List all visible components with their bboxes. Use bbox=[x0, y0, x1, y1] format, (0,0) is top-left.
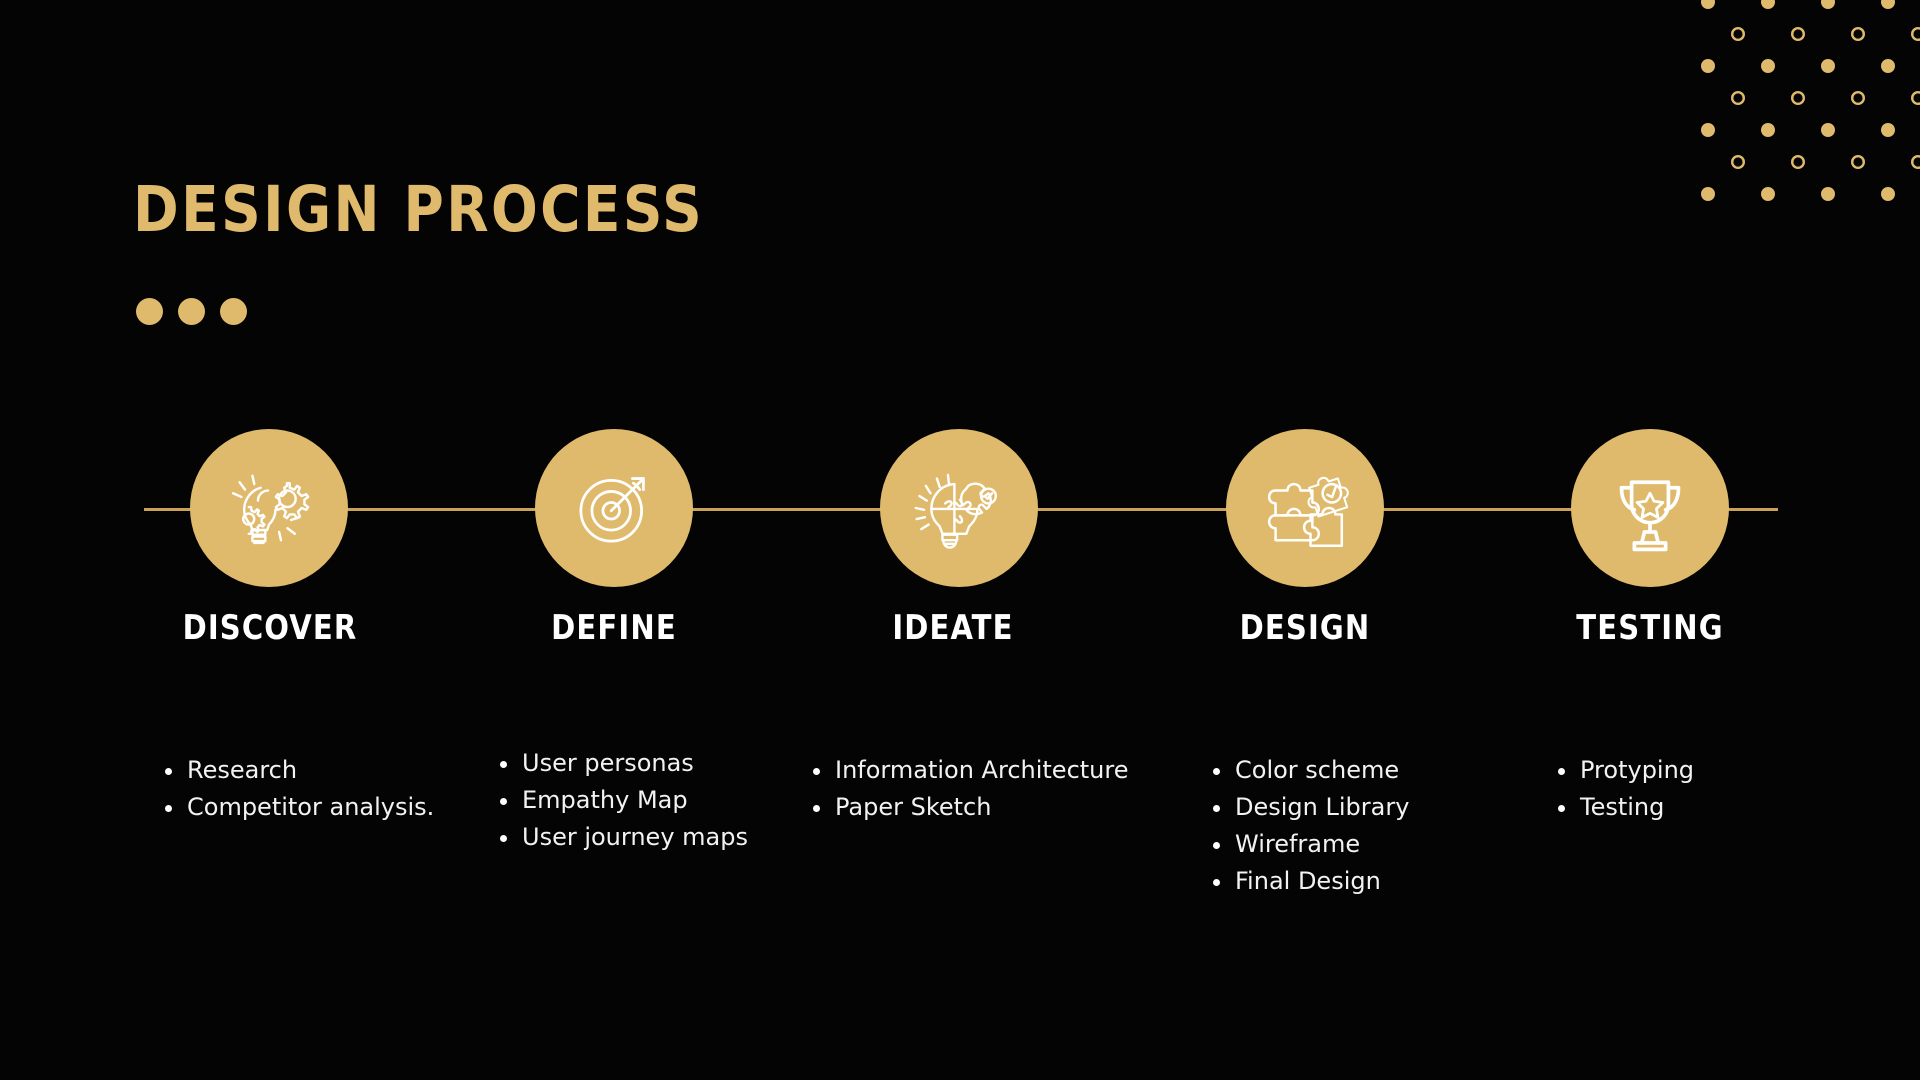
trophy-star-icon bbox=[1604, 462, 1696, 554]
dot-filled bbox=[1821, 0, 1835, 9]
list-item: User personas bbox=[500, 745, 748, 782]
dot-hollow bbox=[1912, 28, 1920, 40]
dot-filled bbox=[1881, 0, 1895, 9]
dot-hollow bbox=[1852, 156, 1864, 168]
puzzle-pieces-check-icon bbox=[1259, 462, 1351, 554]
stage-list-discover: ResearchCompetitor analysis. bbox=[165, 752, 434, 826]
list-item: Testing bbox=[1558, 789, 1694, 826]
dot-filled bbox=[1821, 123, 1835, 137]
dot-filled bbox=[1701, 59, 1715, 73]
dot-hollow bbox=[1912, 156, 1920, 168]
stage-label-discover: DISCOVER bbox=[183, 608, 358, 648]
dot-filled bbox=[1821, 59, 1835, 73]
dot-hollow bbox=[1792, 92, 1804, 104]
dot-hollow bbox=[1852, 28, 1864, 40]
dot-hollow bbox=[1732, 92, 1744, 104]
dot-filled bbox=[1761, 187, 1775, 201]
stage-label-design: DESIGN bbox=[1240, 608, 1371, 648]
dot-filled bbox=[1761, 59, 1775, 73]
list-item: Competitor analysis. bbox=[165, 789, 434, 826]
stage-circle-testing[interactable] bbox=[1571, 429, 1729, 587]
dot-filled bbox=[1701, 0, 1715, 9]
dot-hollow bbox=[1912, 92, 1920, 104]
title-accent-dots bbox=[136, 298, 247, 325]
slide-canvas: DESIGN PROCESS bbox=[0, 0, 1920, 1080]
title-dot-2 bbox=[178, 298, 205, 325]
dot-hollow bbox=[1732, 28, 1744, 40]
stage-circle-discover[interactable] bbox=[190, 429, 348, 587]
list-item: Empathy Map bbox=[500, 782, 748, 819]
dot-filled bbox=[1881, 187, 1895, 201]
dot-filled bbox=[1701, 123, 1715, 137]
list-item: Protyping bbox=[1558, 752, 1694, 789]
lightbulb-gears-icon bbox=[223, 462, 315, 554]
dot-filled bbox=[1701, 187, 1715, 201]
dot-filled bbox=[1761, 0, 1775, 9]
target-arrow-icon bbox=[568, 462, 660, 554]
list-item: Wireframe bbox=[1213, 826, 1409, 863]
dot-hollow bbox=[1732, 156, 1744, 168]
stage-circle-ideate[interactable] bbox=[880, 429, 1038, 587]
list-item: Design Library bbox=[1213, 789, 1409, 826]
list-item: Research bbox=[165, 752, 434, 789]
list-item: Paper Sketch bbox=[813, 789, 1128, 826]
stage-list-design: Color schemeDesign LibraryWireframeFinal… bbox=[1213, 752, 1409, 900]
dot-hollow bbox=[1792, 28, 1804, 40]
dot-hollow bbox=[1792, 156, 1804, 168]
dot-filled bbox=[1881, 59, 1895, 73]
stage-label-testing: TESTING bbox=[1576, 608, 1723, 648]
dot-grid-pattern bbox=[1680, 0, 1920, 225]
list-item: Final Design bbox=[1213, 863, 1409, 900]
title-dot-1 bbox=[136, 298, 163, 325]
stage-list-ideate: Information ArchitecturePaper Sketch bbox=[813, 752, 1128, 826]
stage-circle-design[interactable] bbox=[1226, 429, 1384, 587]
list-item: Color scheme bbox=[1213, 752, 1409, 789]
stage-list-testing: ProtypingTesting bbox=[1558, 752, 1694, 826]
lightbulb-puzzle-icon bbox=[913, 462, 1005, 554]
dot-filled bbox=[1881, 123, 1895, 137]
list-item: Information Architecture bbox=[813, 752, 1128, 789]
title-dot-3 bbox=[220, 298, 247, 325]
stage-circle-define[interactable] bbox=[535, 429, 693, 587]
page-title-block: DESIGN PROCESS bbox=[133, 178, 722, 241]
stage-label-ideate: IDEATE bbox=[892, 608, 1013, 648]
page-title: DESIGN PROCESS bbox=[133, 178, 704, 241]
stage-list-define: User personasEmpathy MapUser journey map… bbox=[500, 745, 748, 856]
stage-label-define: DEFINE bbox=[551, 608, 677, 648]
dot-filled bbox=[1821, 187, 1835, 201]
dot-filled bbox=[1761, 123, 1775, 137]
list-item: User journey maps bbox=[500, 819, 748, 856]
dot-hollow bbox=[1852, 92, 1864, 104]
